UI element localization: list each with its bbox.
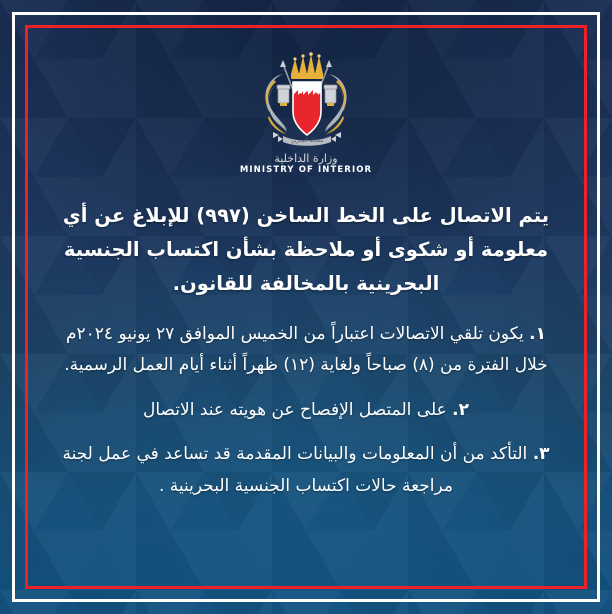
svg-text:مملكة البحرين: مملكة البحرين [291,137,324,144]
poster-content: مملكة البحرين وزارة الداخلية MINISTRY OF… [28,28,584,586]
list-item-number: ٢. [452,400,469,420]
list-item: ٢. على المتصل الإفصاح عن هويته عند الاتص… [47,395,565,426]
list-item: ١. يكون تلقي الاتصالات اعتباراً من الخمي… [47,319,565,382]
bahrain-coat-of-arms-icon: مملكة البحرين [253,50,359,150]
list-item-text: التأكد من أن المعلومات والبيانات المقدمة… [62,444,527,495]
list-item-number: ٣. [533,444,550,464]
headline-text: يتم الاتصال على الخط الساخن (٩٩٧) للإبلا… [47,199,565,301]
list-item-text: يكون تلقي الاتصالات اعتباراً من الخميس ا… [64,324,548,375]
list-item-number: ١. [529,324,546,344]
list-item: ٣. التأكد من أن المعلومات والبيانات المق… [47,439,565,502]
list-item-text: على المتصل الإفصاح عن هويته عند الاتصال [143,400,447,420]
ministry-name-english: MINISTRY OF INTERIOR [240,166,372,175]
emblem-block: مملكة البحرين وزارة الداخلية MINISTRY OF… [240,50,372,175]
ministry-name-arabic: وزارة الداخلية [274,153,337,164]
poster-container: مملكة البحرين وزارة الداخلية MINISTRY OF… [0,0,612,614]
instructions-list: ١. يكون تلقي الاتصالات اعتباراً من الخمي… [47,319,565,515]
